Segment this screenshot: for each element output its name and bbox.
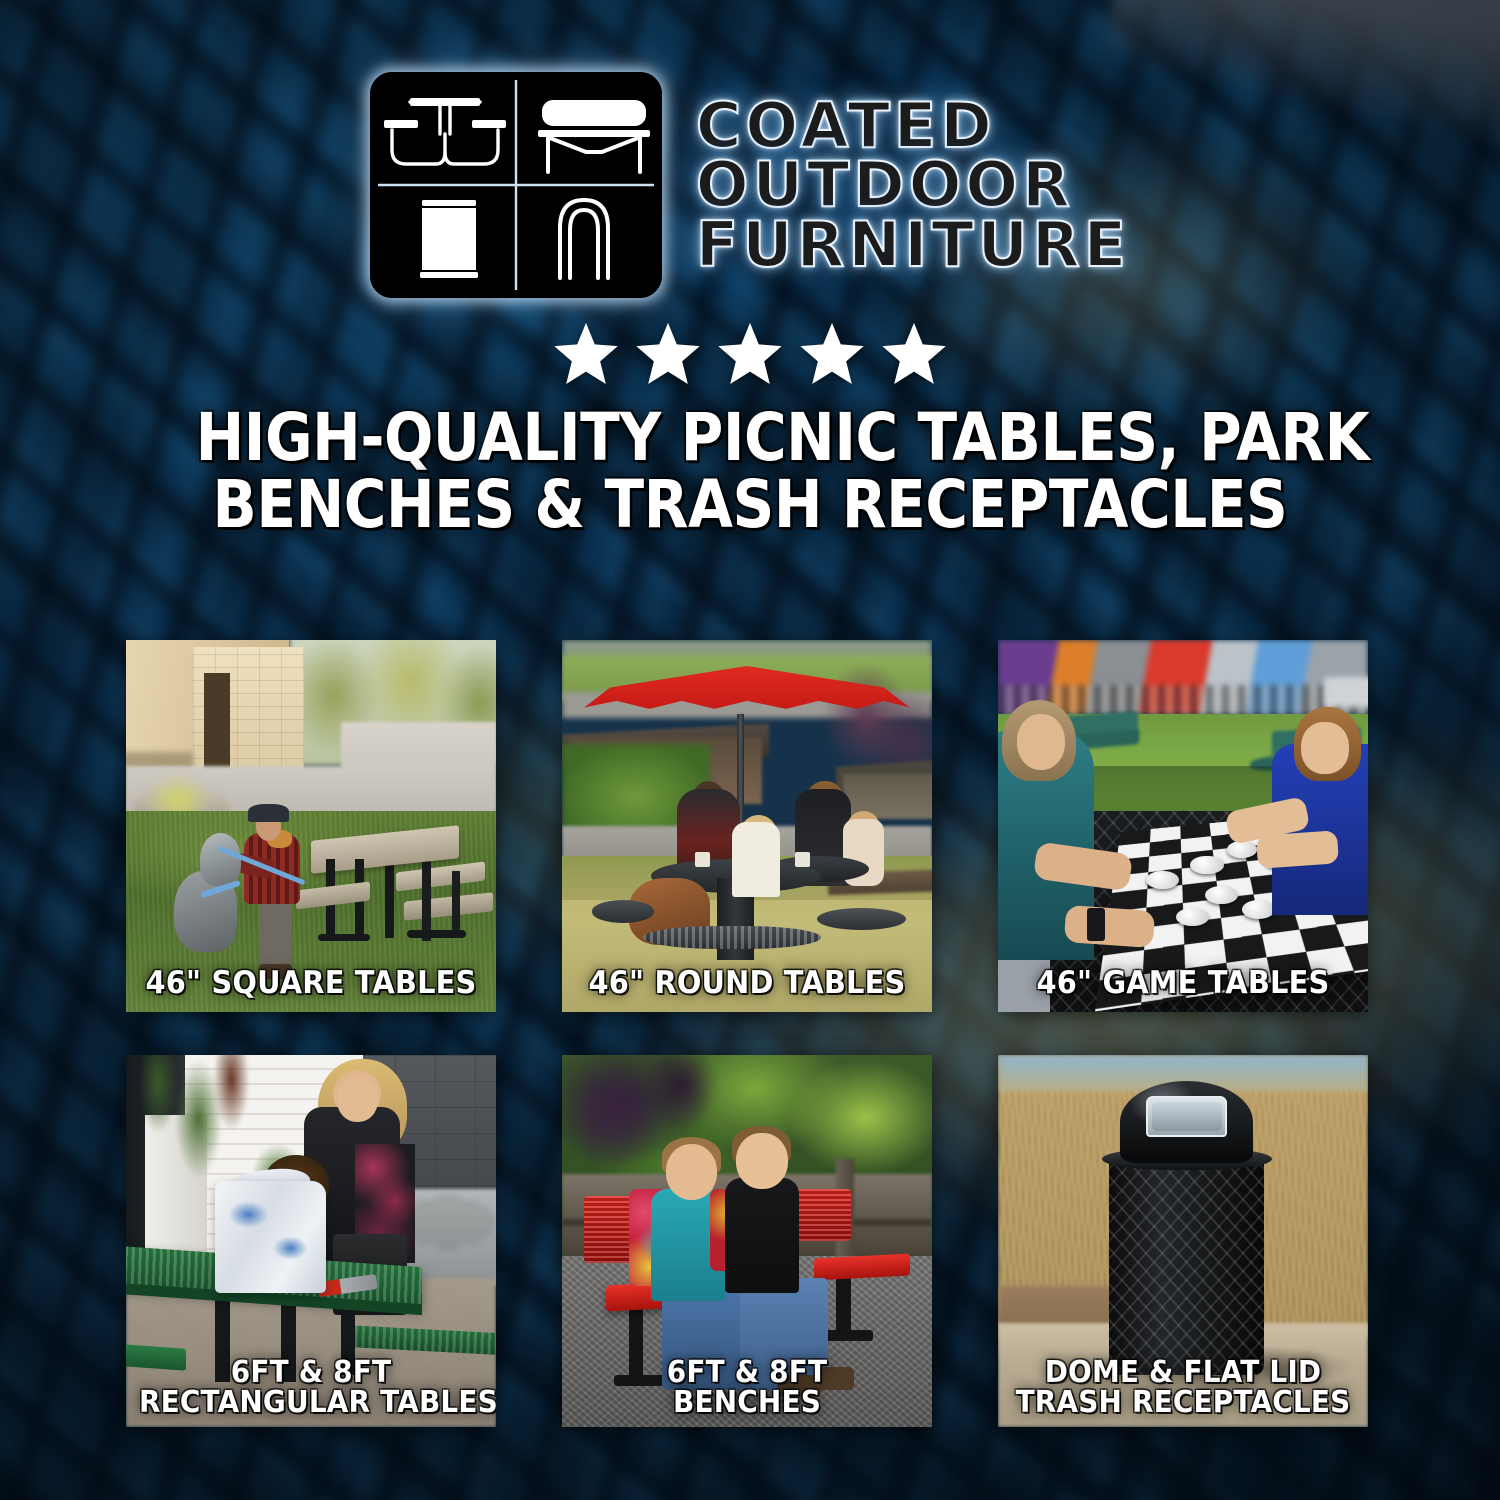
product-category-grid: 46" SQUARE TABLES <box>126 640 1374 1427</box>
headline-line-2: BENCHES & TRASH RECEPTACLES <box>196 471 1305 538</box>
product-tile-trash-receptacles[interactable]: DOME & FLAT LID TRASH RECEPTACLES <box>998 1055 1368 1427</box>
header: COATED OUTDOOR FURNITURE HIGH-QUALITY PI… <box>0 0 1500 539</box>
trash-receptacle-icon <box>420 200 478 278</box>
headline-line-1: HIGH-QUALITY PICNIC TABLES, PARK <box>196 404 1305 471</box>
product-tile-rectangular-tables[interactable]: 6FT & 8FT RECTANGULAR TABLES <box>126 1055 496 1427</box>
star-rating <box>0 320 1500 388</box>
star-icon <box>797 320 867 388</box>
caption-line: RECTANGULAR TABLES <box>139 1388 483 1419</box>
caption-line: 46" ROUND TABLES <box>575 968 919 1000</box>
caption-line: BENCHES <box>575 1388 919 1419</box>
product-caption: 46" ROUND TABLES <box>575 968 919 1000</box>
star-icon <box>879 320 949 388</box>
caption-line: 46" GAME TABLES <box>1011 968 1355 1000</box>
product-photo-square-tables <box>126 640 496 1012</box>
caption-line: 46" SQUARE TABLES <box>139 968 483 1000</box>
star-icon <box>715 320 785 388</box>
product-photo-round-tables <box>562 640 932 1012</box>
caption-line: 6FT & 8FT <box>575 1358 919 1389</box>
wordmark-line-3: FURNITURE <box>696 216 1130 273</box>
product-tile-square-tables[interactable]: 46" SQUARE TABLES <box>126 640 496 1012</box>
product-caption: 46" GAME TABLES <box>1011 968 1355 1000</box>
wordmark-line-1: COATED <box>696 97 1130 154</box>
product-caption: 6FT & 8FT RECTANGULAR TABLES <box>139 1358 483 1419</box>
promo-banner: COATED OUTDOOR FURNITURE HIGH-QUALITY PI… <box>0 0 1500 1500</box>
caption-line: DOME & FLAT LID <box>1011 1358 1355 1389</box>
product-photo-game-tables <box>998 640 1368 1012</box>
star-icon <box>551 320 621 388</box>
brand-wordmark: COATED OUTDOOR FURNITURE <box>696 97 1130 272</box>
product-caption: 46" SQUARE TABLES <box>139 968 483 1000</box>
wordmark-line-2: OUTDOOR <box>696 156 1130 213</box>
page-title: HIGH-QUALITY PICNIC TABLES, PARK BENCHES… <box>196 404 1305 539</box>
brand-logo-icon <box>370 72 662 298</box>
brand-lockup: COATED OUTDOOR FURNITURE <box>0 0 1500 298</box>
caption-line: 6FT & 8FT <box>139 1358 483 1389</box>
product-tile-round-tables[interactable]: 46" ROUND TABLES <box>562 640 932 1012</box>
product-caption: 6FT & 8FT BENCHES <box>575 1358 919 1419</box>
caption-line: TRASH RECEPTACLES <box>1011 1388 1355 1419</box>
star-icon <box>633 320 703 388</box>
product-tile-game-tables[interactable]: 46" GAME TABLES <box>998 640 1368 1012</box>
product-tile-benches[interactable]: 6FT & 8FT BENCHES <box>562 1055 932 1427</box>
product-caption: DOME & FLAT LID TRASH RECEPTACLES <box>1011 1358 1355 1419</box>
